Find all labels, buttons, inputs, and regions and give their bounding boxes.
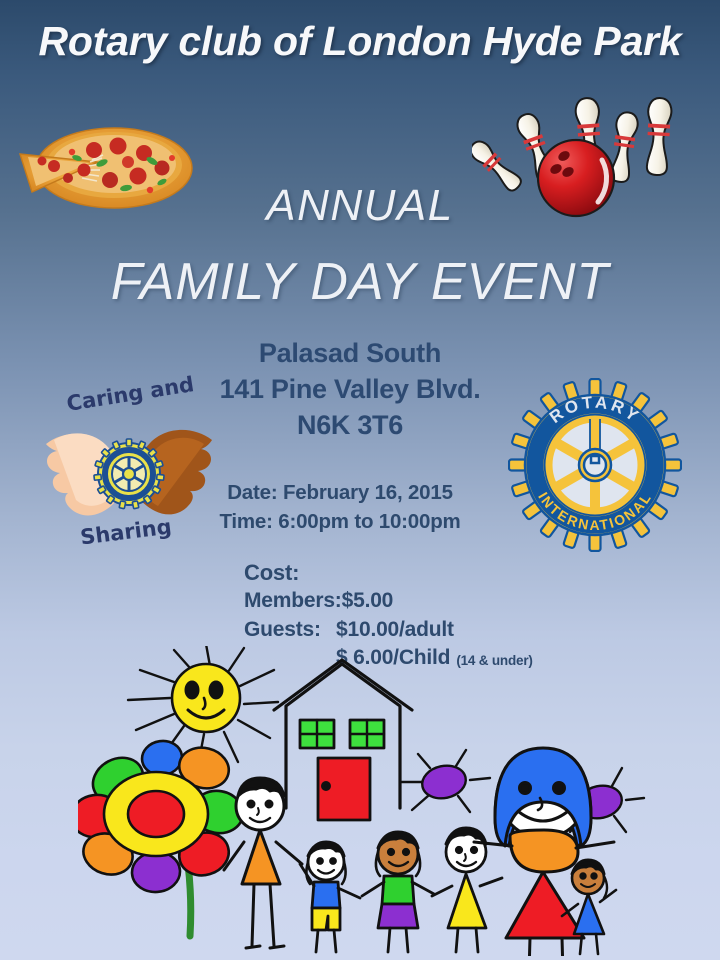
cost-row-guests-adult: Guests: $10.00/adult (244, 616, 533, 645)
time-label: Time: (219, 507, 272, 536)
rotary-international-logo: ROTARY INTERNATIONAL (508, 378, 682, 552)
figure-small-blue-child (562, 860, 616, 954)
figure-green-shirt-child (362, 832, 434, 952)
cost-heading: Cost: (244, 558, 533, 587)
event-time-row: Time: 6:00pm to 10:00pm (170, 507, 510, 536)
childrens-drawing (78, 646, 646, 956)
guests-adult-value: $10.00/adult (336, 616, 454, 645)
venue-street: 141 Pine Valley Blvd. (170, 372, 530, 408)
venue-block: Palasad South 141 Pine Valley Blvd. N6K … (170, 336, 530, 444)
cost-row-members: Members: $5.00 (244, 587, 533, 616)
venue-postal-code: N6K 3T6 (170, 408, 530, 444)
purple-flower-icon-left (400, 750, 490, 812)
members-label: Members: (244, 587, 342, 616)
event-schedule: Date: February 16, 2015 Time: 6:00pm to … (170, 478, 510, 536)
event-date-row: Date: February 16, 2015 (170, 478, 510, 507)
date-label: Date: (227, 478, 277, 507)
members-value: $5.00 (342, 587, 394, 616)
guests-label: Guests: (244, 616, 336, 645)
figure-blue-shirt-child (300, 842, 360, 952)
headline-family-day-event: FAMILY DAY EVENT (0, 252, 720, 312)
caring-and-sharing-logo: Caring and (44, 382, 214, 554)
venue-name: Palasad South (170, 336, 530, 372)
rainbow-flower-icon (78, 738, 246, 936)
family-stick-figures-icon (224, 748, 616, 956)
headline-annual: ANNUAL (0, 181, 720, 231)
event-poster: Rotary club of London Hyde Park ANNUAL F… (0, 0, 720, 960)
date-value: February 16, 2015 (283, 481, 453, 504)
page-title: Rotary club of London Hyde Park (0, 16, 720, 68)
figure-yellow-dress-child (432, 828, 502, 952)
time-value: 6:00pm to 10:00pm (278, 510, 460, 533)
figure-orange-dress (224, 778, 302, 948)
house-icon (274, 660, 412, 820)
